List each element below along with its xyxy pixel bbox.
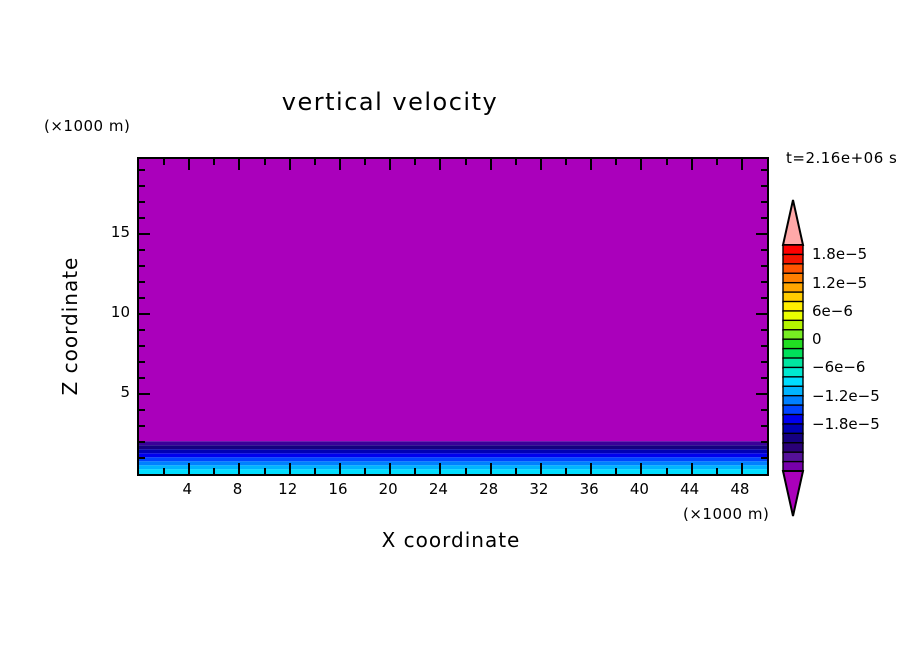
y-minor-tick (139, 281, 145, 283)
colorbar-tick-label: −1.2e−5 (812, 387, 880, 405)
plot-area (137, 157, 769, 476)
colorbar-band (783, 264, 803, 274)
x-major-tick (439, 463, 441, 474)
y-minor-tick (761, 297, 767, 299)
x-tick-label: 8 (233, 480, 243, 498)
y-major-tick (756, 233, 767, 235)
timestamp-annotation: t=2.16e+06 s (786, 149, 897, 167)
y-major-tick (139, 233, 150, 235)
x-minor-tick (314, 159, 316, 165)
x-minor-tick (716, 468, 718, 474)
colorbar-band (783, 320, 803, 330)
y-tick-label: 15 (100, 223, 130, 241)
x-major-tick (691, 159, 693, 170)
x-major-tick (389, 463, 391, 474)
y-minor-tick (139, 409, 145, 411)
x-tick-label: 16 (328, 480, 347, 498)
colorbar-band (783, 245, 803, 255)
y-tick-label: 10 (100, 303, 130, 321)
colorbar-band (783, 415, 803, 425)
y-minor-tick (761, 329, 767, 331)
y-minor-tick (761, 441, 767, 443)
x-major-tick (540, 159, 542, 170)
y-major-tick (756, 313, 767, 315)
x-minor-tick (414, 159, 416, 165)
colorbar-band (783, 358, 803, 368)
y-minor-tick (139, 265, 145, 267)
x-minor-tick (615, 468, 617, 474)
colorbar-band (783, 386, 803, 396)
colorbar-band (783, 254, 803, 264)
y-minor-tick (139, 457, 145, 459)
colorbar-band (783, 283, 803, 293)
colorbar-band (783, 367, 803, 377)
colorbar-tick-label: −6e−6 (812, 358, 865, 376)
x-minor-tick (163, 468, 165, 474)
x-minor-tick (364, 468, 366, 474)
x-minor-tick (163, 159, 165, 165)
colorbar-band (783, 302, 803, 312)
x-minor-tick (414, 468, 416, 474)
x-minor-tick (465, 468, 467, 474)
x-major-tick (289, 159, 291, 170)
y-minor-tick (761, 281, 767, 283)
y-minor-tick (761, 457, 767, 459)
heatmap-layer (139, 159, 767, 441)
x-minor-tick (666, 468, 668, 474)
colorbar-band (783, 273, 803, 283)
y-minor-tick (761, 345, 767, 347)
y-minor-tick (761, 361, 767, 363)
heatmap-layer (139, 449, 767, 453)
x-major-tick (490, 159, 492, 170)
x-major-tick (188, 463, 190, 474)
colorbar-tick-label: −1.8e−5 (812, 415, 880, 433)
colorbar-band (783, 339, 803, 349)
colorbar-tick-label: 1.2e−5 (812, 274, 867, 292)
y-major-tick (139, 313, 150, 315)
x-tick-label: 44 (680, 480, 699, 498)
x-major-tick (640, 159, 642, 170)
y-axis-units-label: (×1000 m) (44, 117, 130, 135)
colorbar-tick-label: 1.8e−5 (812, 245, 867, 263)
colorbar-band (783, 405, 803, 415)
x-major-tick (238, 463, 240, 474)
y-minor-tick (139, 329, 145, 331)
x-minor-tick (314, 468, 316, 474)
colorbar-under-arrow (783, 471, 803, 516)
heatmap-layer (139, 441, 767, 445)
y-minor-tick (139, 169, 145, 171)
x-major-tick (339, 463, 341, 474)
y-minor-tick (761, 409, 767, 411)
y-minor-tick (139, 361, 145, 363)
x-major-tick (490, 463, 492, 474)
colorbar-band (783, 377, 803, 387)
x-minor-tick (565, 159, 567, 165)
y-minor-tick (761, 185, 767, 187)
x-major-tick (188, 159, 190, 170)
y-minor-tick (139, 377, 145, 379)
y-minor-tick (139, 201, 145, 203)
x-minor-tick (565, 468, 567, 474)
y-major-tick (756, 393, 767, 395)
colorbar-band (783, 292, 803, 302)
x-tick-label: 24 (429, 480, 448, 498)
colorbar-swatches (781, 199, 805, 517)
heatmap-layer (139, 461, 767, 465)
x-minor-tick (515, 468, 517, 474)
y-tick-label: 5 (100, 383, 130, 401)
x-major-tick (238, 159, 240, 170)
colorbar (781, 199, 805, 517)
x-minor-tick (264, 159, 266, 165)
x-tick-label: 48 (730, 480, 749, 498)
colorbar-tick-label: 0 (812, 330, 822, 348)
heatmap-layer (139, 469, 767, 474)
y-minor-tick (139, 217, 145, 219)
x-minor-tick (213, 468, 215, 474)
page-title: vertical velocity (0, 88, 780, 116)
y-axis-title: Z coordinate (58, 196, 82, 456)
x-axis-units-label: (×1000 m) (683, 505, 769, 523)
x-tick-label: 4 (182, 480, 192, 498)
heatmap-layer (139, 445, 767, 449)
x-major-tick (439, 159, 441, 170)
x-tick-label: 40 (630, 480, 649, 498)
y-minor-tick (761, 169, 767, 171)
x-major-tick (590, 159, 592, 170)
heatmap-layer (139, 457, 767, 461)
x-major-tick (640, 463, 642, 474)
x-axis-title: X coordinate (137, 528, 765, 552)
x-major-tick (741, 159, 743, 170)
colorbar-band (783, 443, 803, 453)
x-major-tick (590, 463, 592, 474)
x-minor-tick (666, 159, 668, 165)
y-minor-tick (139, 345, 145, 347)
colorbar-band (783, 433, 803, 443)
y-minor-tick (761, 201, 767, 203)
x-tick-label: 36 (580, 480, 599, 498)
x-major-tick (289, 463, 291, 474)
x-major-tick (741, 463, 743, 474)
x-minor-tick (615, 159, 617, 165)
x-minor-tick (465, 159, 467, 165)
y-major-tick (139, 393, 150, 395)
y-minor-tick (139, 297, 145, 299)
x-major-tick (691, 463, 693, 474)
x-minor-tick (264, 468, 266, 474)
x-major-tick (389, 159, 391, 170)
y-minor-tick (139, 425, 145, 427)
heatmap-layer (139, 453, 767, 457)
y-minor-tick (761, 377, 767, 379)
x-tick-label: 20 (379, 480, 398, 498)
colorbar-band (783, 311, 803, 321)
colorbar-band (783, 452, 803, 462)
x-minor-tick (364, 159, 366, 165)
x-tick-label: 28 (479, 480, 498, 498)
y-minor-tick (139, 185, 145, 187)
x-major-tick (540, 463, 542, 474)
y-minor-tick (761, 265, 767, 267)
colorbar-band (783, 396, 803, 406)
x-minor-tick (515, 159, 517, 165)
x-tick-label: 12 (278, 480, 297, 498)
heatmap-canvas (139, 159, 767, 474)
colorbar-tick-label: 6e−6 (812, 302, 853, 320)
colorbar-band (783, 424, 803, 434)
colorbar-band (783, 349, 803, 359)
y-minor-tick (139, 441, 145, 443)
x-major-tick (339, 159, 341, 170)
y-minor-tick (761, 249, 767, 251)
colorbar-band (783, 330, 803, 340)
y-minor-tick (761, 425, 767, 427)
x-minor-tick (213, 159, 215, 165)
y-minor-tick (139, 249, 145, 251)
x-tick-label: 32 (529, 480, 548, 498)
colorbar-over-arrow (783, 200, 803, 245)
y-minor-tick (761, 217, 767, 219)
heatmap-layer (139, 465, 767, 469)
x-minor-tick (716, 159, 718, 165)
